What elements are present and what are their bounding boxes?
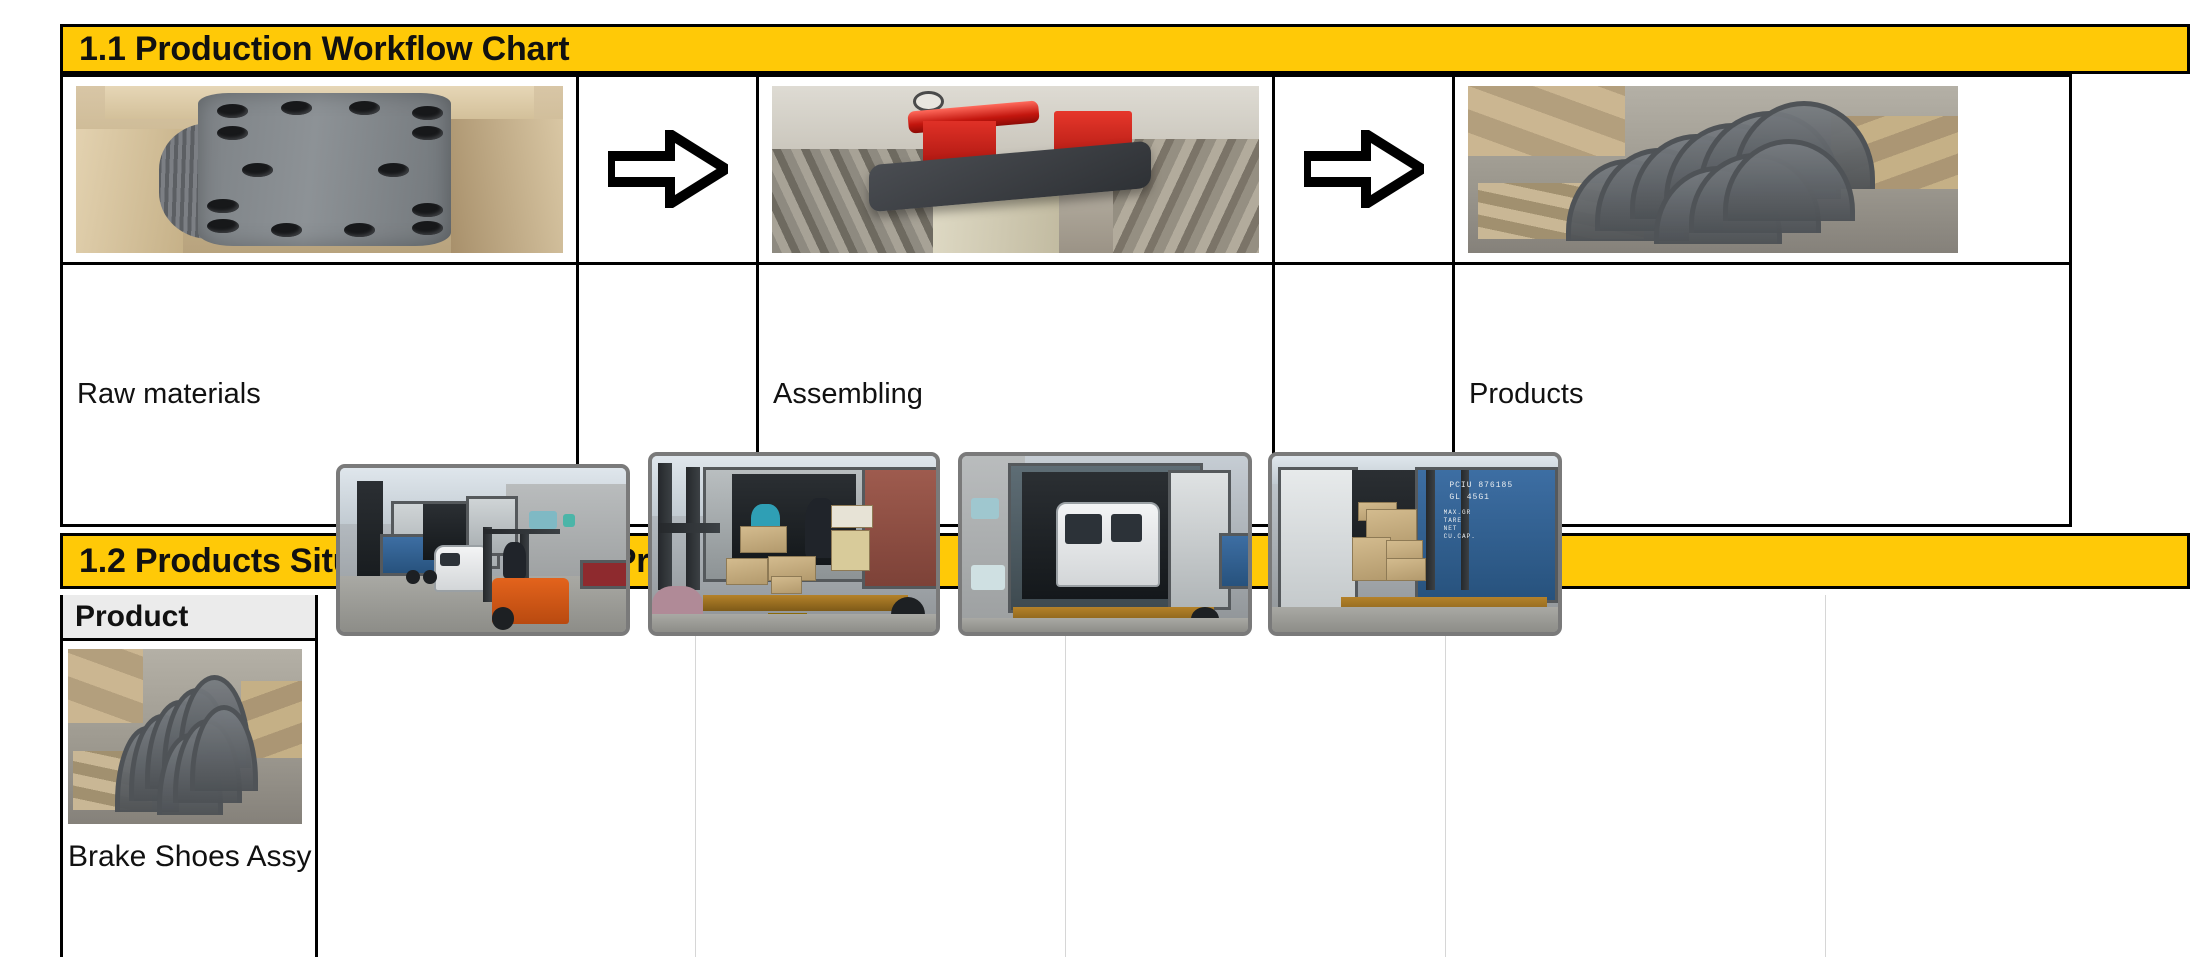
section-1-1-title: 1.1 Production Workflow Chart bbox=[63, 32, 569, 66]
container-size-type: GL 45G1 bbox=[1449, 493, 1490, 502]
workflow-step-2-cell bbox=[759, 77, 1275, 262]
right-block-arrow-icon bbox=[1304, 130, 1424, 208]
spreadsheet-gridline bbox=[695, 595, 696, 957]
shipping-photo-3 bbox=[958, 452, 1252, 636]
spreadsheet-gridline bbox=[1445, 595, 1446, 957]
workflow-image-row bbox=[63, 77, 2069, 262]
shipping-photo-1 bbox=[336, 464, 630, 636]
product-name-label: Brake Shoes Assy bbox=[63, 824, 315, 874]
workflow-arrow-2-cell bbox=[1275, 77, 1455, 262]
product-column-header: Product bbox=[63, 595, 315, 641]
raw-materials-photo bbox=[76, 86, 563, 253]
products-situation-area bbox=[0, 595, 2196, 957]
product-thumbnail bbox=[68, 649, 302, 824]
product-header-label: Product bbox=[63, 600, 188, 634]
spreadsheet-gridline bbox=[1825, 595, 1826, 957]
products-photo bbox=[1468, 86, 1958, 253]
workflow-step-3-cell bbox=[1455, 77, 1971, 262]
right-block-arrow-icon bbox=[608, 130, 728, 208]
section-1-1-banner: 1.1 Production Workflow Chart bbox=[60, 24, 2190, 74]
container-mass-marks: MAX.GRTARENETCU.CAP. bbox=[1444, 509, 1476, 541]
assembling-photo bbox=[772, 86, 1259, 253]
workflow-step-1-cell bbox=[63, 77, 579, 262]
workflow-caption-spacer bbox=[1971, 265, 2069, 524]
shipping-photo-4: PCIU 876185 GL 45G1 MAX.GRTARENETCU.CAP. bbox=[1268, 452, 1562, 636]
spreadsheet-gridline bbox=[1065, 595, 1066, 957]
shipping-photo-2 bbox=[648, 452, 940, 636]
workflow-spacer-cell bbox=[1971, 77, 2069, 262]
workflow-arrow-1-cell bbox=[579, 77, 759, 262]
product-column: Product Brake Shoes Assy bbox=[60, 595, 318, 957]
container-owner-code: PCIU 876185 bbox=[1449, 481, 1513, 490]
